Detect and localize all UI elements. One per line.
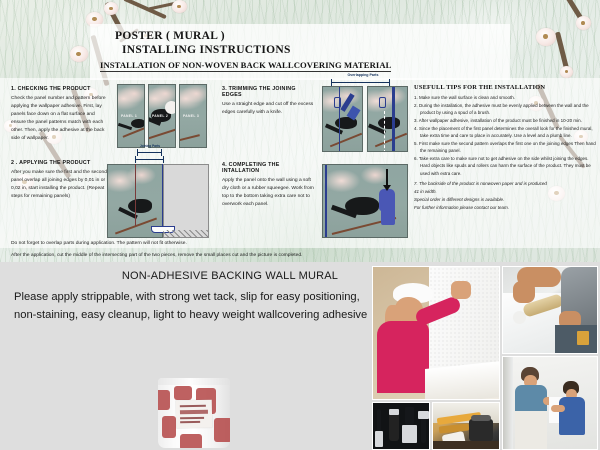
panel-label-3: PANEL 3 (183, 114, 199, 118)
step-3-block: 3. TRIMMING THE JOINING EDGES Use a stra… (222, 86, 314, 117)
promo-body: Please apply strippable, with strong wet… (14, 288, 374, 324)
overlapping-parts-caption: Overlapping Parts (330, 73, 396, 77)
tip-item-2: 2. During the installation, the adhesive… (414, 102, 598, 117)
paste-bucket-image (158, 378, 230, 448)
photo-workbench (432, 402, 500, 450)
step-3-heading: 3. TRIMMING THE JOINING EDGES (222, 86, 314, 98)
panel-label-2: PANEL 2 (152, 114, 168, 118)
step-1-body: Check the panel number and pattern befor… (11, 95, 107, 143)
photo-woman-hanging-wallpaper (372, 266, 500, 400)
promo-headline: NON-ADHESIVE BACKING WALL MURAL (85, 270, 375, 282)
step-3-body: Use a straight edge and cut off the exce… (222, 101, 314, 117)
tip-item-3: 3. After wallpaper adhesive, installatio… (414, 117, 598, 124)
tip-item-5: 5. First make sure the second pattern ov… (414, 140, 598, 155)
step-2-block: 2 . APPLYING THE PRODUCT After you make … (11, 160, 109, 201)
photo-man-and-boy (502, 356, 598, 450)
step-2-body: After you make sure the first and the se… (11, 169, 109, 201)
step-1-block: 1. CHECKING THE PRODUCT Check the panel … (11, 86, 107, 143)
diagram-three-panels: PANEL 1 PANEL 2 PANEL 3 Joining Parts (117, 84, 209, 148)
diagram-applying-panel (107, 164, 209, 238)
page-subtitle: INSTALLING INSTRUCTIONS (122, 44, 291, 56)
step-2-heading: 2 . APPLYING THE PRODUCT (11, 160, 109, 166)
tip-item-6: 6. Take extra care to make sure not to g… (414, 155, 598, 177)
tips-list: 1. Make sure the wall surface is clean a… (414, 94, 598, 211)
tip-item-7-sub-1: 41 in width. (414, 188, 598, 195)
joining-parts-caption: Joining Parts (129, 144, 171, 148)
useful-tips-section: USEFULL TIPS FOR THE INSTALLATION 1. Mak… (414, 84, 598, 211)
poster-instruction-sheet: POSTER ( MURAL ) INSTALLING INSTRUCTIONS… (0, 0, 600, 450)
note-line-2: After the application, cut the middle of… (11, 252, 571, 259)
tip-item-7: 7. The backside of the product is nonwov… (414, 180, 598, 187)
tip-item-7-sub-2: Special order in different designs is av… (414, 196, 598, 203)
tip-item-4: 4. Since the placement of the first pane… (414, 125, 598, 140)
photo-roller-paste (502, 266, 598, 354)
step-4-body: Apply the panel onto the wall using a so… (222, 177, 318, 209)
step-1-heading: 1. CHECKING THE PRODUCT (11, 86, 107, 92)
step-4-block: 4. COMPLETING THE INTALLATION Apply the … (222, 162, 318, 209)
page-title: POSTER ( MURAL ) (115, 30, 225, 42)
diagram-trimming-edges (322, 86, 408, 152)
tips-heading: USEFULL TIPS FOR THE INSTALLATION (414, 84, 598, 91)
note-line-1: Do not forget to overlap parts during ap… (11, 240, 431, 247)
tip-item-1: 1. Make sure the wall surface is clean a… (414, 94, 598, 101)
step-4-heading: 4. COMPLETING THE INTALLATION (222, 162, 318, 174)
panel-label-1: PANEL 1 (121, 114, 137, 118)
photo-tools (372, 402, 430, 450)
tip-item-7-sub-3: For further information please contact o… (414, 204, 598, 211)
diagram-completing-installation (322, 164, 408, 238)
page-subheading: INSTALLATION OF NON-WOVEN BACK WALLCOVER… (100, 60, 391, 72)
